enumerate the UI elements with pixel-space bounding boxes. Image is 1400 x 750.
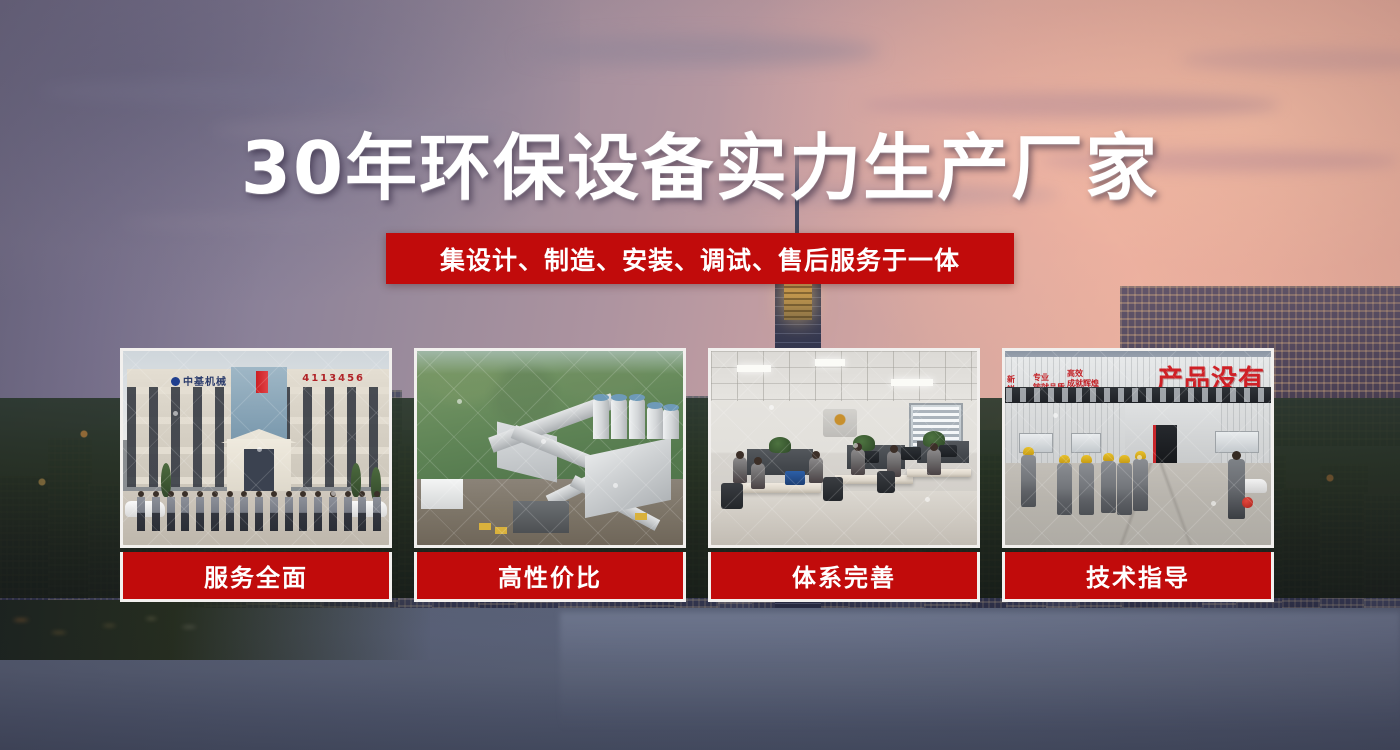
wall-graphic [823,409,857,437]
card-label-text: 服务全面 [204,558,308,593]
office-interior-photo [708,348,980,548]
building-sign-text: 中基机械 [171,373,227,388]
hero-banner: 30年环保设备实力生产厂家 集设计、制造、安装、调试、售后服务于一体 中基机械 … [0,0,1400,750]
feature-card-list: 中基机械 4113456 [120,348,1286,606]
feature-card-guidance[interactable]: 产品没有 新锐 专业铸就品质 高效成就辉煌 [1002,348,1274,606]
factory-workers-photo: 产品没有 新锐 专业铸就品质 高效成就辉煌 [1002,348,1274,548]
supervisor-figure [1228,459,1245,519]
factory-slogan-3: 高效成就辉煌 [1067,369,1099,389]
subtitle-text: 集设计、制造、安装、调试、售后服务于一体 [440,241,960,277]
card-label-text: 高性价比 [498,558,602,593]
company-logo-icon [171,377,180,386]
laptop-icon [785,471,805,485]
red-helmet-icon [1242,497,1253,508]
card-label-bar: 高性价比 [414,552,686,602]
building-phone-text: 4113456 [302,373,365,384]
headquarters-photo: 中基机械 4113456 [120,348,392,548]
feature-card-service[interactable]: 中基机械 4113456 [120,348,392,606]
card-label-text: 体系完善 [792,558,896,593]
feature-card-value[interactable]: 高性价比 [414,348,686,606]
production-plant-photo [414,348,686,548]
card-label-text: 技术指导 [1086,558,1190,593]
feature-card-system[interactable]: 体系完善 [708,348,980,606]
flag-icon [256,371,268,393]
card-label-bar: 技术指导 [1002,552,1274,602]
staff-row [137,489,381,531]
card-label-bar: 体系完善 [708,552,980,602]
card-label-bar: 服务全面 [120,552,392,602]
subtitle-banner: 集设计、制造、安装、调试、售后服务于一体 [386,233,1014,284]
page-title: 30年环保设备实力生产厂家 [0,132,1400,204]
